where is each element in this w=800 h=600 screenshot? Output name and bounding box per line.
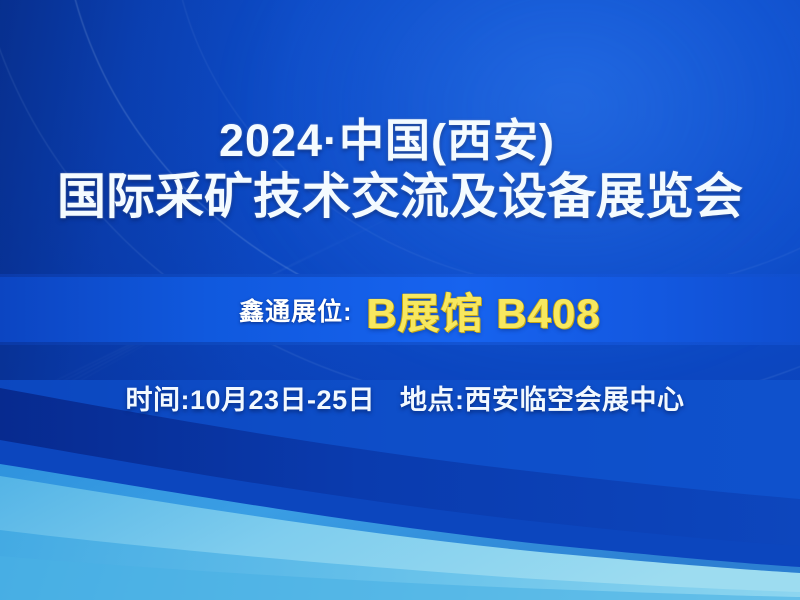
event-location: 地点:西安临空会展中心 — [400, 378, 685, 417]
event-meta-row: 时间:10月23日-25日 地点:西安临空会展中心 — [0, 378, 800, 417]
title-line-event-name: 国际采矿技术交流及设备展览会 — [0, 169, 800, 227]
booth-number: B展馆 B408 — [366, 280, 600, 341]
booth-info-row: 鑫通展位: B展馆 B408 — [0, 281, 800, 339]
poster-title: 2024·中国(西安) 国际采矿技术交流及设备展览会 — [0, 118, 800, 227]
event-date: 时间:10月23日-25日 — [126, 378, 376, 417]
exhibition-poster: 2024·中国(西安) 国际采矿技术交流及设备展览会 鑫通展位: B展馆 B40… — [0, 0, 800, 600]
booth-label: 鑫通展位: — [239, 292, 352, 328]
title-line-year-city: 2024·中国(西安) — [0, 118, 800, 165]
